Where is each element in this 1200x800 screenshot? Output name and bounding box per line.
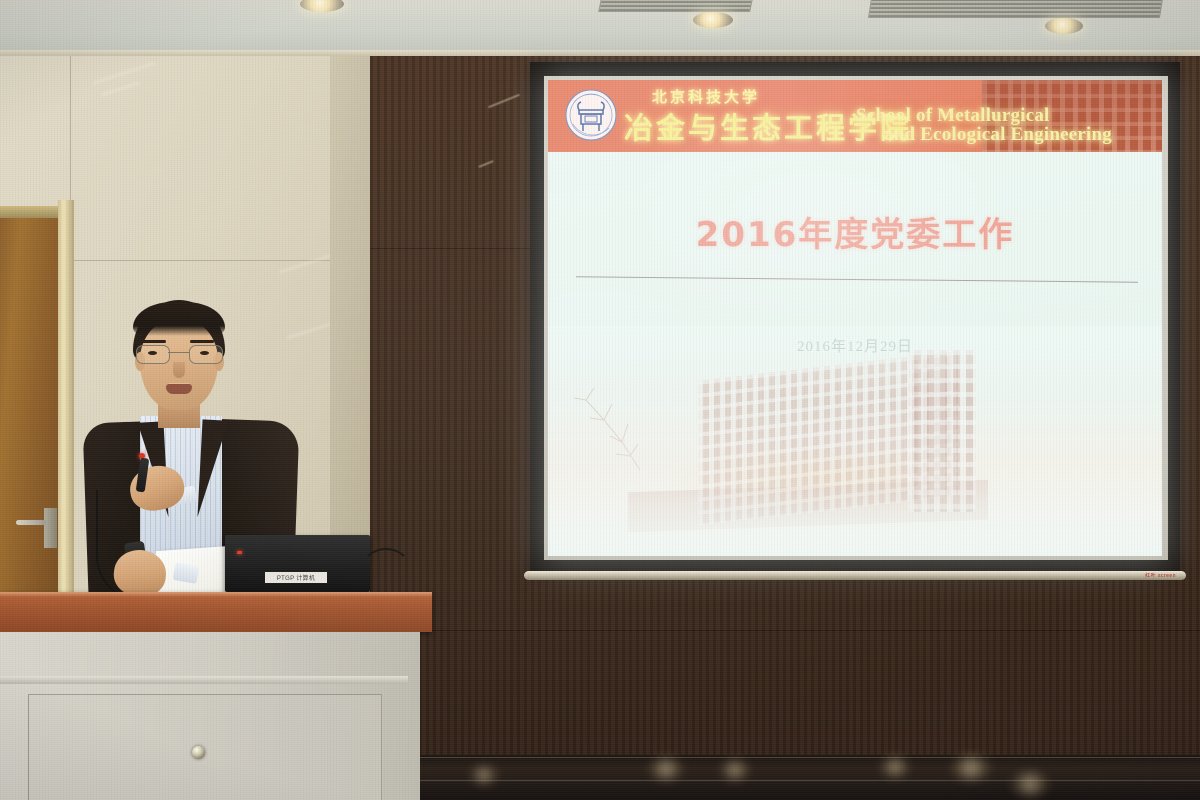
eyebrow-left bbox=[142, 340, 166, 343]
air-vent bbox=[598, 0, 754, 12]
baseboard-strip bbox=[420, 755, 1200, 800]
screen-brand-logo: 红叶 screen bbox=[1145, 572, 1176, 579]
ceiling-downlight bbox=[1045, 18, 1083, 34]
slide-divider-rule bbox=[576, 276, 1138, 282]
baseboard-reflection bbox=[470, 766, 498, 784]
slide-title: 2016年度党委工作 bbox=[548, 207, 1162, 256]
banner-university-name: 北京科技大学 bbox=[652, 86, 760, 107]
room-door[interactable] bbox=[0, 218, 58, 638]
door-frame bbox=[58, 200, 74, 640]
slide-header-banner: 北京科技大学 冶金与生态工程学院 School of Metallurgical… bbox=[548, 80, 1162, 152]
podium-top-highlight bbox=[0, 592, 432, 597]
baseboard-reflection bbox=[950, 756, 992, 780]
mouth bbox=[166, 384, 192, 394]
equipment-cable bbox=[360, 548, 412, 596]
baseboard-line bbox=[420, 757, 1200, 758]
nose bbox=[173, 362, 185, 378]
shirt-cuff-lower bbox=[173, 562, 200, 584]
podium-laptop[interactable] bbox=[225, 535, 370, 592]
baseboard-reflection bbox=[720, 760, 750, 780]
laptop-asset-label: PTGP 计算机 bbox=[265, 572, 327, 583]
eye-left bbox=[148, 351, 157, 355]
screen-roller-bar[interactable] bbox=[524, 571, 1186, 580]
laptop-power-led-icon bbox=[237, 551, 242, 554]
slide-date: 2016年12月29日 bbox=[548, 335, 1162, 356]
presentation-photo-scene: 北京科技大学 冶金与生态工程学院 School of Metallurgical… bbox=[0, 0, 1200, 800]
photo-fade-overlay bbox=[548, 326, 1162, 556]
baseboard-line bbox=[420, 780, 1200, 781]
podium-top-surface bbox=[0, 592, 432, 632]
podium-drawer-lip bbox=[0, 676, 408, 684]
eyebrow-right bbox=[190, 340, 214, 343]
door-lock-plate bbox=[44, 508, 57, 548]
podium-cabinet-door[interactable] bbox=[28, 694, 382, 800]
glasses-bridge bbox=[168, 352, 189, 353]
slide-building-photo bbox=[548, 326, 1162, 556]
door-handle[interactable] bbox=[16, 520, 46, 525]
hair-fringe bbox=[133, 302, 225, 336]
panel-seam bbox=[370, 248, 530, 249]
jacket-lapel-right bbox=[197, 419, 228, 518]
banner-school-name-en: School of Metallurgical and Ecological E… bbox=[856, 106, 1156, 144]
baseboard-reflection bbox=[1010, 772, 1050, 796]
banner-en-line1: School of Metallurgical bbox=[856, 105, 1050, 126]
ustb-ding-emblem-icon bbox=[564, 88, 618, 142]
panel-seam bbox=[370, 630, 1200, 631]
ceiling-downlight bbox=[693, 12, 733, 28]
air-vent bbox=[868, 0, 1164, 18]
eye-right bbox=[200, 351, 209, 355]
baseboard-reflection bbox=[648, 758, 684, 780]
banner-en-line2: and Ecological Engineering bbox=[856, 125, 1156, 144]
baseboard-reflection bbox=[880, 757, 910, 777]
podium-cabinet-knob[interactable] bbox=[192, 746, 205, 759]
projected-slide: 北京科技大学 冶金与生态工程学院 School of Metallurgical… bbox=[548, 80, 1162, 556]
wall-seam bbox=[74, 260, 364, 261]
